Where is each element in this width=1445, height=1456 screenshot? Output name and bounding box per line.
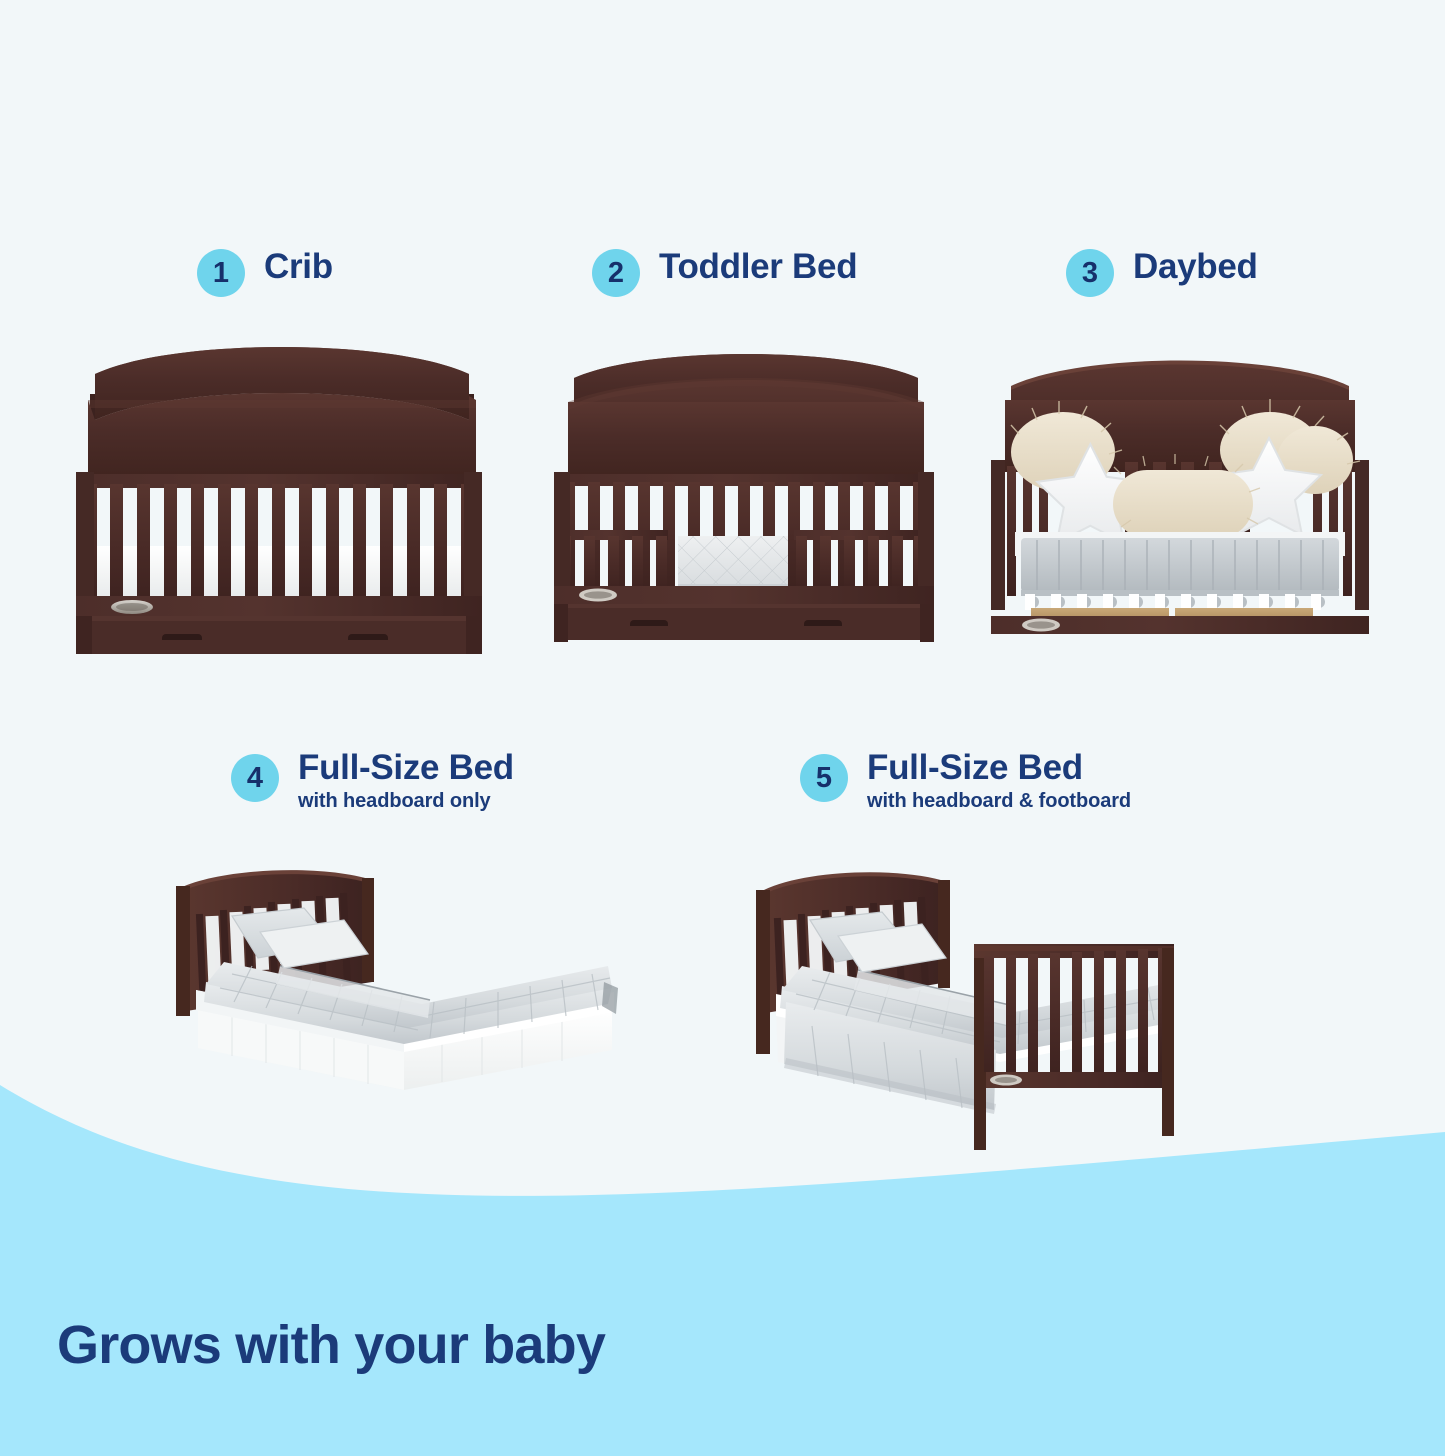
step-title-2: Toddler Bed — [659, 249, 857, 286]
step-subtitle-4: with headboard only — [298, 790, 514, 813]
step-label-5: 5 Full-Size Bed with headboard & footboa… — [800, 750, 1131, 813]
step-title-3: Daybed — [1133, 249, 1258, 286]
step-badge-5: 5 — [800, 754, 848, 802]
step-title-1: Crib — [264, 249, 333, 286]
step-subtitle-5: with headboard & footboard — [867, 790, 1131, 813]
step-badge-1: 1 — [197, 249, 245, 297]
illustration-full-size-bed-headboard — [172, 862, 642, 1112]
infographic-canvas: 1 Crib 2 Toddler Bed 3 Daybed 4 Full-Siz… — [0, 0, 1445, 1456]
illustration-daybed — [985, 342, 1375, 642]
illustration-crib — [62, 334, 502, 654]
step-title-4: Full-Size Bed — [298, 750, 514, 787]
step-label-1: 1 Crib — [197, 249, 333, 297]
step-label-4: 4 Full-Size Bed with headboard only — [231, 750, 514, 813]
step-label-3: 3 Daybed — [1066, 249, 1258, 297]
illustration-toddler-bed — [546, 344, 946, 644]
step-badge-4: 4 — [231, 754, 279, 802]
illustration-full-size-bed-headboard-footboard — [752, 862, 1232, 1152]
footer-headline: Grows with your baby — [57, 1318, 605, 1372]
step-badge-2: 2 — [592, 249, 640, 297]
step-label-2: 2 Toddler Bed — [592, 249, 857, 297]
step-title-5: Full-Size Bed — [867, 750, 1131, 787]
step-badge-3: 3 — [1066, 249, 1114, 297]
